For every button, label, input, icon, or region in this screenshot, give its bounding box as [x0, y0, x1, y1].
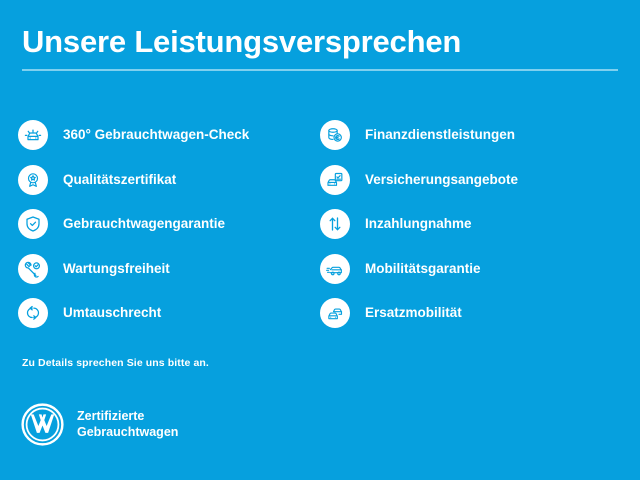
promise-label: Gebrauchtwagengarantie	[63, 216, 225, 232]
title-divider	[22, 69, 618, 71]
promise-column-left: 360° Gebrauchtwagen-Check Qualitätszerti…	[18, 113, 320, 336]
shield-check-icon	[18, 209, 48, 239]
promise-item-ersatzmobilitaet: Ersatzmobilität	[320, 291, 622, 336]
car-speed-icon	[320, 254, 350, 284]
promise-item-inzahlungnahme: Inzahlungnahme	[320, 202, 622, 247]
arrows-up-down-icon	[320, 209, 350, 239]
coins-euro-icon	[320, 120, 350, 150]
award-rosette-icon	[18, 165, 48, 195]
brand-text-line1: Zertifizierte	[77, 409, 144, 423]
car-document-icon	[320, 165, 350, 195]
header: Unsere Leistungsversprechen	[22, 24, 618, 71]
promise-label: Inzahlungnahme	[365, 216, 472, 232]
exchange-arrows-icon	[18, 298, 48, 328]
promise-label: Wartungsfreiheit	[63, 261, 170, 277]
promise-label: 360° Gebrauchtwagen-Check	[63, 127, 249, 143]
brand-text: Zertifizierte Gebrauchtwagen	[77, 409, 178, 440]
promise-item-gebrauchtwagen-check: 360° Gebrauchtwagen-Check	[18, 113, 320, 158]
promise-item-gebrauchtwagengarantie: Gebrauchtwagengarantie	[18, 202, 320, 247]
brand-text-line2: Gebrauchtwagen	[77, 425, 178, 439]
promise-item-umtauschrecht: Umtauschrecht	[18, 291, 320, 336]
promise-label: Versicherungsangebote	[365, 172, 518, 188]
promise-label: Finanzdienstleistungen	[365, 127, 515, 143]
brand-lockup: Zertifizierte Gebrauchtwagen	[20, 402, 178, 447]
promise-label: Umtauschrecht	[63, 305, 161, 321]
promise-label: Qualitätszertifikat	[63, 172, 176, 188]
promise-item-versicherungsangebote: Versicherungsangebote	[320, 158, 622, 203]
promise-item-qualitaetszertifikat: Qualitätszertifikat	[18, 158, 320, 203]
two-cars-icon	[320, 298, 350, 328]
promise-grid: 360° Gebrauchtwagen-Check Qualitätszerti…	[18, 113, 622, 336]
promise-item-finanzdienstleistungen: Finanzdienstleistungen	[320, 113, 622, 158]
promise-label: Mobilitätsgarantie	[365, 261, 481, 277]
promise-poster: Unsere Leistungsversprechen	[0, 0, 640, 480]
footnote-text: Zu Details sprechen Sie uns bitte an.	[22, 357, 209, 369]
wrench-check-icon	[18, 254, 48, 284]
page-title: Unsere Leistungsversprechen	[22, 24, 618, 60]
promise-item-wartungsfreiheit: Wartungsfreiheit	[18, 247, 320, 292]
promise-item-mobilitaetsgarantie: Mobilitätsgarantie	[320, 247, 622, 292]
promise-column-right: Finanzdienstleistungen Versicherungsange…	[320, 113, 622, 336]
promise-label: Ersatzmobilität	[365, 305, 462, 321]
car-inspection-icon	[18, 120, 48, 150]
volkswagen-logo	[20, 402, 65, 447]
